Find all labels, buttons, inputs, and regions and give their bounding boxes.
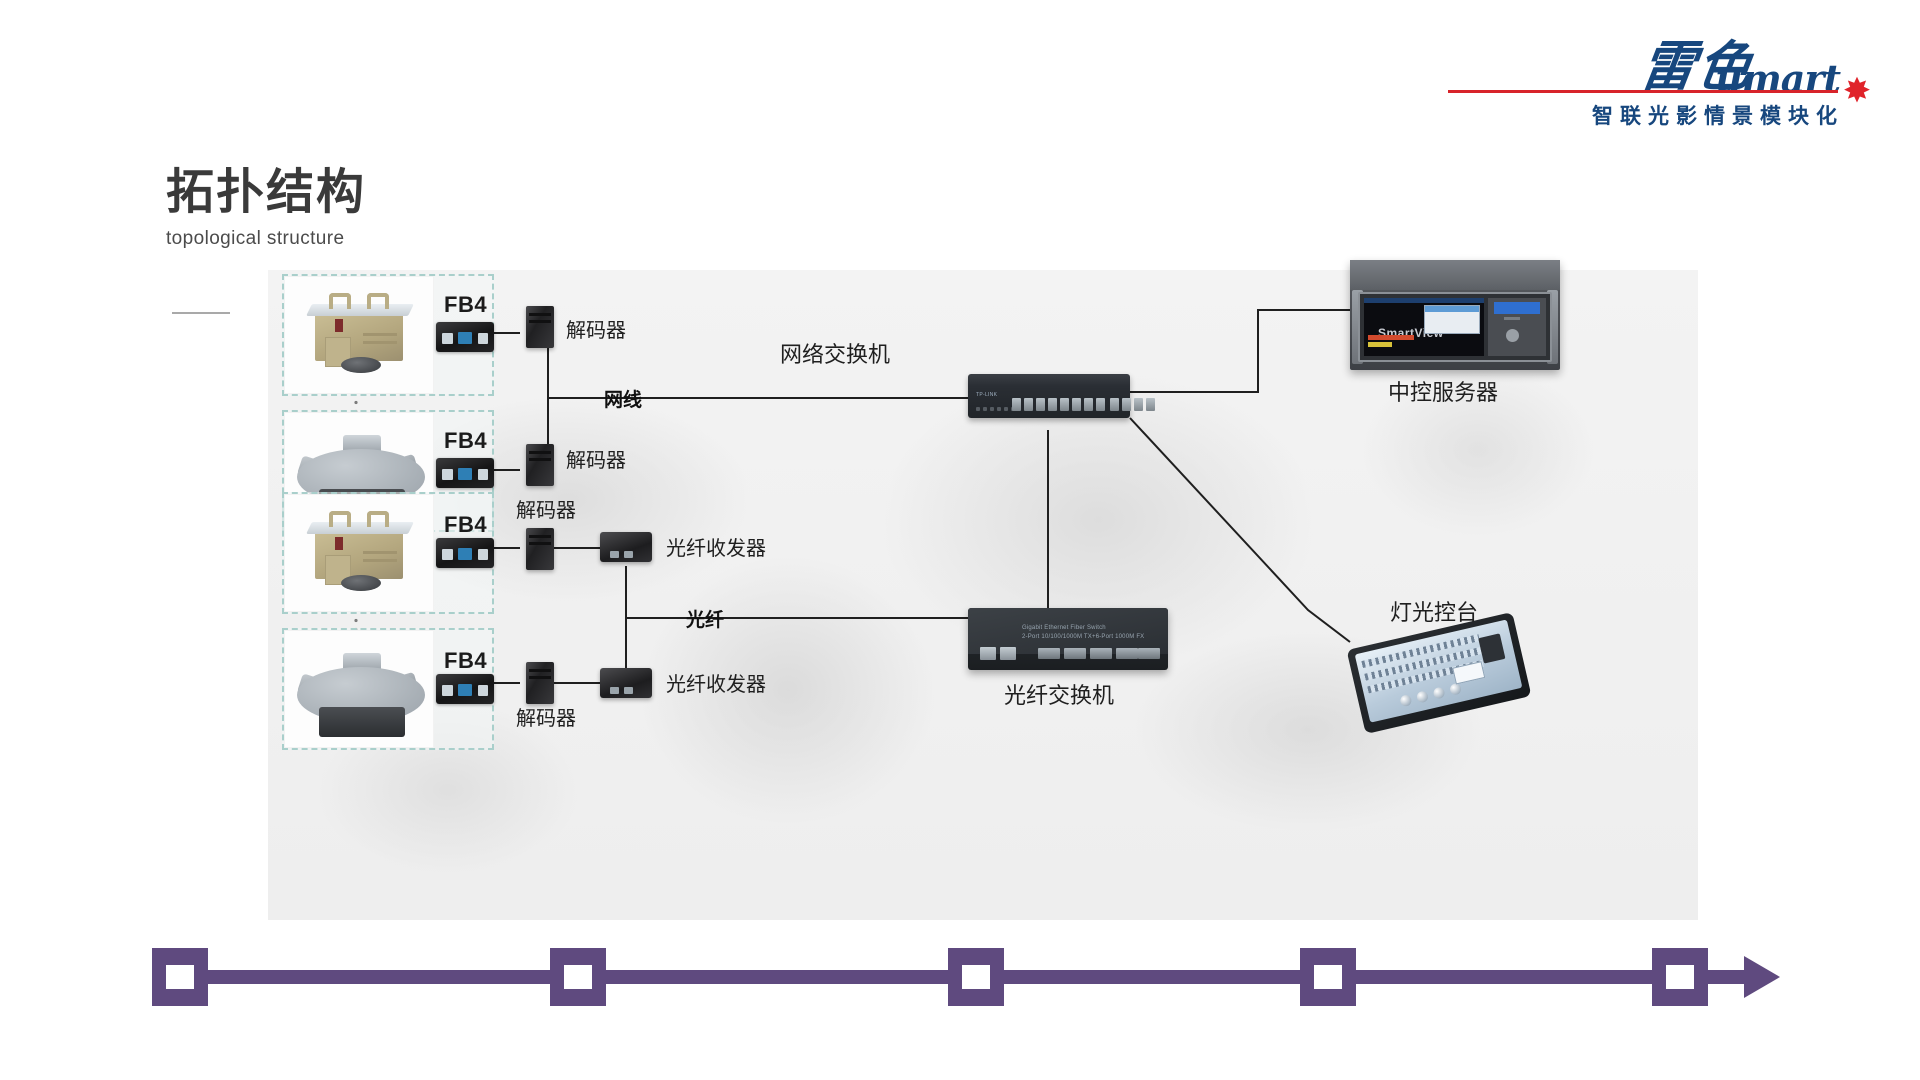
brand-tagline: 智联光影情景模块化: [1592, 100, 1844, 130]
timeline-node-2[interactable]: [550, 948, 606, 1006]
decoder-label-2: 解码器: [566, 444, 626, 473]
fiber-switch-silkscreen: Gigabit Ethernet Fiber Switch 2-Port 10/…: [1022, 624, 1144, 642]
fb4-label-1: FB4: [444, 292, 487, 318]
page-heading: 拓扑结构 topological structure: [166, 168, 366, 250]
server-screen-topbar: [1364, 298, 1484, 303]
timeline-node-4[interactable]: [1300, 948, 1356, 1006]
fb4-port-a: [442, 549, 453, 560]
decoder-label-3: 解码器: [516, 494, 576, 523]
server-screen: SmartView: [1364, 298, 1484, 356]
fb4-label-4: FB4: [444, 648, 487, 674]
switch-brand-text: TP-LINK: [976, 392, 997, 398]
fb4-port-b: [478, 333, 488, 344]
fb4-port-b: [478, 469, 488, 480]
fiber-switch-rj45-2: [1000, 647, 1016, 660]
decoder-strip: [529, 313, 551, 316]
switch-status-leds: [976, 407, 1015, 411]
device-photo-4: [284, 630, 434, 748]
server-bezel: SmartView: [1358, 292, 1552, 362]
brand-logo: 雷色 umart ✸ 智联光影情景模块化: [1242, 22, 1862, 132]
device-photo-1: [284, 276, 434, 394]
decoder-strip: [529, 676, 551, 679]
timeline-node-1[interactable]: [152, 948, 208, 1006]
star-icon: ✸: [1840, 74, 1874, 108]
decoder-strip: [529, 535, 551, 538]
server-lid: [1350, 260, 1560, 290]
fb4-port-b: [478, 549, 488, 560]
fb4-controller-1: [436, 322, 494, 352]
fb4-port-a: [442, 469, 453, 480]
fiber-switch-rj45-1: [980, 647, 996, 660]
decoder-unit-4: [526, 662, 554, 704]
console-knob-bank: [1399, 683, 1462, 708]
timeline-node-5[interactable]: [1652, 948, 1708, 1006]
fb4-screen: [458, 468, 472, 480]
projector-top-plate: [306, 304, 414, 316]
fb4-screen: [458, 548, 472, 560]
page-title: 拓扑结构: [166, 168, 366, 218]
projector-handle-right: [367, 293, 389, 309]
transceiver-jack: [610, 687, 619, 694]
fiber-switch-sfp-5: [1138, 648, 1160, 659]
page-subtitle: topological structure: [166, 228, 366, 250]
decoder-unit-3: [526, 528, 554, 570]
server-screen-window: [1424, 305, 1480, 334]
fb4-screen: [458, 332, 472, 344]
topology-diagram-panel: FB4 解码器 FB4 解码器: [268, 270, 1698, 920]
fiber-switch-silk-line-2: 2-Port 10/100/1000M TX+6-Port 1000M FX: [1022, 633, 1144, 642]
server-led-strip: [1504, 317, 1520, 320]
transceiver-jack: [624, 551, 633, 558]
timeline-node-3[interactable]: [948, 948, 1004, 1006]
decoder-label-4: 解码器: [516, 702, 576, 731]
heading-divider: [172, 312, 230, 314]
server-screen-bar-yellow: [1368, 342, 1392, 347]
fb4-port-b: [478, 685, 488, 696]
network-switch-label: 网络交换机: [780, 337, 890, 369]
decoder-strip: [529, 542, 551, 545]
decoder-strip: [529, 458, 551, 461]
projector-top-plate: [306, 522, 414, 534]
fiber-transceiver-2: [600, 668, 652, 698]
logo-latin-text: umart: [1715, 56, 1840, 101]
network-switch-device: TP-LINK: [968, 374, 1130, 418]
projector-indicator: [335, 319, 343, 332]
round-light-device-4: [297, 653, 425, 739]
decoder-unit-1: [526, 306, 554, 348]
fiber-switch-silk-line-1: Gigabit Ethernet Fiber Switch: [1022, 624, 1144, 633]
switch-port-bank-1: [1012, 398, 1105, 411]
server-front-panel: [1488, 298, 1546, 356]
device-photo-3: [284, 494, 434, 612]
section-progress-timeline: [0, 930, 1920, 1020]
server-power-button[interactable]: [1506, 329, 1519, 342]
fb4-port-a: [442, 685, 453, 696]
network-cable-label: 网线: [604, 385, 642, 412]
logo-red-underline: [1448, 90, 1838, 93]
server-screen-bar-red: [1368, 335, 1414, 340]
fiber-switch-sfp-2: [1064, 648, 1086, 659]
projector-device-1: [315, 311, 403, 361]
decoder-strip: [529, 320, 551, 323]
projector-vent-2: [363, 559, 397, 562]
fb4-label-2: FB4: [444, 428, 487, 454]
fiber-switch-label: 光纤交换机: [1004, 678, 1114, 710]
control-server-label: 中控服务器: [1388, 375, 1498, 407]
fb4-controller-3: [436, 538, 494, 568]
console-button-pad: [1478, 633, 1505, 663]
fb4-port-a: [442, 333, 453, 344]
control-server-device: SmartView: [1350, 260, 1560, 370]
fb4-label-3: FB4: [444, 512, 487, 538]
decoder-strip: [529, 669, 551, 672]
projector-device-3: [315, 529, 403, 579]
timeline-arrow-icon: [1744, 956, 1780, 998]
projector-vent-1: [363, 333, 397, 336]
projector-vent-2: [363, 341, 397, 344]
decoder-label-1: 解码器: [566, 314, 626, 343]
fiber-transceiver-1: [600, 532, 652, 562]
fiber-label: 光纤: [686, 605, 724, 632]
projector-vent-1: [363, 551, 397, 554]
decoder-strip: [529, 451, 551, 454]
projector-base-1: [341, 357, 381, 373]
projector-handle-right: [367, 511, 389, 527]
fiber-switch-sfp-3: [1090, 648, 1112, 659]
server-lcd: [1494, 302, 1540, 314]
transceiver-jack: [624, 687, 633, 694]
switch-port-bank-2: [1110, 398, 1155, 411]
projector-indicator: [335, 537, 343, 550]
fiber-switch-sfp-4: [1116, 648, 1138, 659]
fiber-switch-device: Gigabit Ethernet Fiber Switch 2-Port 10/…: [968, 608, 1168, 670]
transceiver-label-1: 光纤收发器: [666, 532, 766, 561]
fiber-switch-sfp-1: [1038, 648, 1060, 659]
fb4-controller-4: [436, 674, 494, 704]
lighting-console-label: 灯光控台: [1390, 595, 1478, 627]
fb4-screen: [458, 684, 472, 696]
projector-base-3: [341, 575, 381, 591]
decoder-unit-2: [526, 444, 554, 486]
transceiver-label-2: 光纤收发器: [666, 668, 766, 697]
round-light-plinth: [319, 707, 405, 737]
projector-handle-left: [329, 511, 351, 527]
fb4-controller-2: [436, 458, 494, 488]
projector-handle-left: [329, 293, 351, 309]
transceiver-jack: [610, 551, 619, 558]
